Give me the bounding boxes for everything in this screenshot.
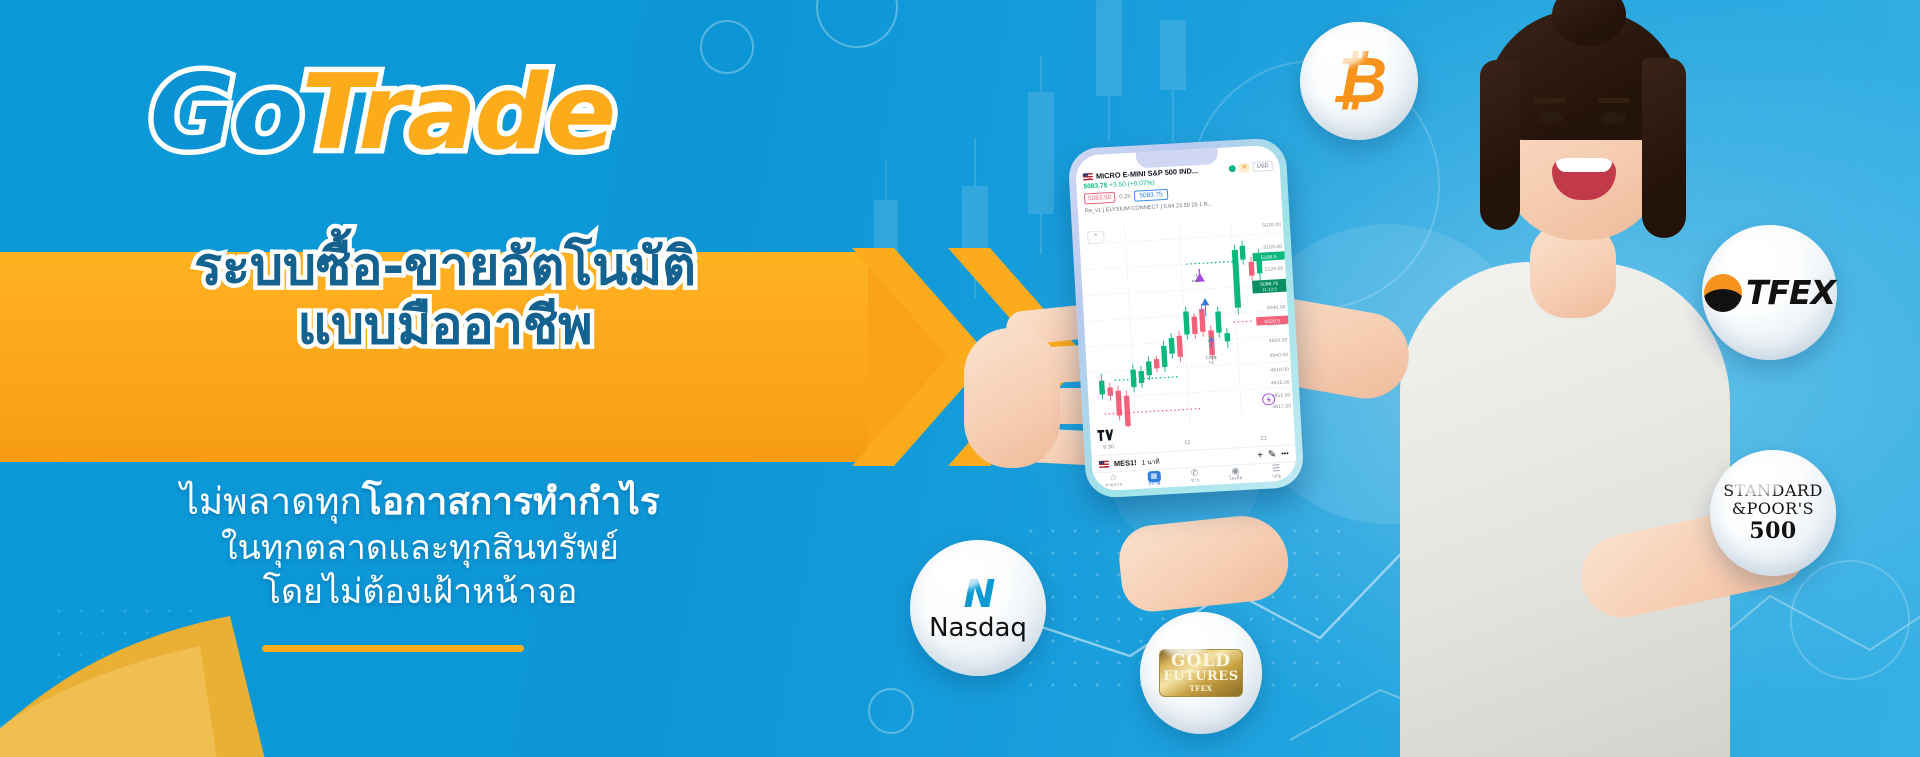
subheadline: ไม่พลาดทุกโอกาสการทำกำไร ในทุกตลาดและทุก… (80, 478, 760, 614)
svg-text:4910.00: 4910.00 (1270, 367, 1289, 374)
app-footer: 9:30 12 21 MES1! 1 นาที + ✎ ••• (1090, 418, 1297, 491)
tfex-mark-icon (1704, 274, 1742, 312)
decor-candle (1096, 0, 1122, 96)
sp500-line-1: STANDARD (1710, 482, 1836, 500)
subheadline-line-2: ในทุกตลาดและทุกสินทรัพย์ (80, 526, 760, 570)
person-hair-side-left (1480, 60, 1520, 230)
more-options-icon[interactable]: ••• (1281, 450, 1289, 457)
person-shirt (1400, 262, 1730, 757)
gold-futures-logo: GOLD FUTURES TFEX (1159, 649, 1243, 697)
tab-label: ไอเดีย (1229, 475, 1243, 482)
badge-tfex: TFEX (1702, 225, 1837, 360)
price-change: +3.50 (+0.07%) (1109, 180, 1155, 190)
sp500-line-3: 500 (1749, 518, 1796, 544)
badge-sp500: STANDARD &POOR'S 500 (1710, 450, 1836, 576)
flag-us-icon (1099, 460, 1109, 468)
svg-text:-1: -1 (1193, 273, 1198, 278)
svg-text:5106.5: 5106.5 (1261, 254, 1277, 261)
person-brow-left (1534, 98, 1566, 103)
svg-text:5040.00: 5040.00 (1267, 304, 1286, 311)
badge-nasdaq: N Nasdaq (910, 540, 1046, 676)
decor-candle (1028, 92, 1054, 214)
subheadline-line-1: ไม่พลาดทุกโอกาสการทำกำไร (80, 478, 760, 526)
person-eye-right (1600, 112, 1626, 124)
tfex-wordmark: TFEX (1746, 273, 1835, 312)
subheadline-line-3: โดยไม่ต้องเฝ้าหน้าจอ (80, 570, 760, 614)
svg-text:4920.00: 4920.00 (1268, 337, 1287, 344)
time-tick: 12 (1184, 440, 1191, 446)
subheadline-line-1-normal: ไม่พลาดทุก (180, 480, 362, 523)
tab-chart[interactable]: ▦ กราฟ (1133, 470, 1175, 489)
sp500-logo: STANDARD &POOR'S 500 (1710, 482, 1836, 544)
tab-label: กราฟ (1148, 480, 1160, 487)
nasdaq-mark-icon: N (964, 572, 993, 616)
currency-badge[interactable]: USD (1253, 161, 1273, 172)
tab-label: ข่าว (1190, 478, 1199, 484)
brand-logo-go-fill: Go (150, 53, 301, 173)
svg-text:4817.00: 4817.00 (1272, 403, 1291, 410)
tab-label: เมนู (1272, 473, 1281, 479)
sp500-line-2-text: &POOR'S (1732, 499, 1814, 518)
headline: ระบบซื้อ-ขายอัตโนมัติ แบบมืออาชีพ ระบบซื… (95, 238, 795, 357)
last-price: 5083.75 (1083, 182, 1107, 190)
chart-svg: 5020.00 5100.00 5120.00 5040.00 5000.00 … (1079, 216, 1294, 429)
person-hair-side-right (1642, 58, 1686, 238)
decor-ring (868, 688, 914, 734)
timeframe-button[interactable]: 1 นาที (1141, 455, 1160, 467)
phone-body: MICRO E-MINI S&P 500 IND... ☆ USD 5083.7… (1067, 137, 1304, 499)
symbol-button[interactable]: MES1! (1114, 457, 1137, 467)
svg-text:+1: +1 (1208, 360, 1214, 365)
add-indicator-icon[interactable]: + (1257, 449, 1263, 460)
tab-news[interactable]: ✆ ข่าว (1174, 468, 1216, 486)
sp500-line-2: &POOR'S 500 (1710, 500, 1836, 544)
buy-button[interactable]: 5083.75 (1134, 189, 1168, 202)
market-status-icon (1229, 164, 1236, 171)
interval-badge[interactable]: ☆ (1239, 163, 1250, 173)
tab-menu[interactable]: ☰ เมนู (1256, 463, 1298, 481)
phone-screen[interactable]: MICRO E-MINI S&P 500 IND... ☆ USD 5083.7… (1075, 145, 1297, 492)
headline-line-1-fill: ระบบซื้อ-ขายอัตโนมัติ (95, 238, 795, 297)
decor-candle (1160, 20, 1186, 90)
svg-text:exit: exit (1192, 278, 1200, 283)
draw-tool-icon[interactable]: ✎ (1268, 449, 1277, 460)
palm (964, 328, 1060, 468)
svg-text:4940.00: 4940.00 (1269, 352, 1288, 359)
decor-ring (700, 20, 754, 74)
brand-logo: GoTrade GoTrade (150, 62, 614, 165)
banner-stage: GoTrade GoTrade ระบบซื้อ-ขายอัตโนมัติ แบ… (0, 0, 1920, 757)
decor-underline (262, 645, 524, 652)
badge-bitcoin: ₿ (1300, 22, 1418, 140)
tradingview-logo-icon (1097, 429, 1114, 444)
spread-value: 0.25 (1119, 193, 1131, 200)
headline-line-2-fill: แบบมืออาชีพ (95, 297, 795, 356)
svg-text:11:13:5: 11:13:5 (1262, 286, 1278, 292)
sell-button[interactable]: 5083.50 (1084, 192, 1116, 205)
svg-text:5020.00: 5020.00 (1262, 222, 1281, 229)
flag-us-icon (1083, 172, 1093, 180)
nasdaq-logo: N Nasdaq (929, 575, 1027, 641)
svg-text:5100.00: 5100.00 (1263, 244, 1282, 251)
price-chart[interactable]: ⌃ (1079, 216, 1294, 429)
badge-gold-futures: GOLD FUTURES TFEX (1140, 612, 1262, 734)
gold-line-2: FUTURES (1163, 670, 1238, 684)
tab-ideas[interactable]: ◉ ไอเดีย (1215, 466, 1257, 484)
svg-text:5120.00: 5120.00 (1264, 266, 1283, 273)
svg-text:5020.5: 5020.5 (1264, 318, 1280, 325)
bitcoin-icon: ₿ (1331, 49, 1387, 113)
nasdaq-wordmark: Nasdaq (929, 615, 1027, 641)
time-tick: 9:30 (1103, 444, 1114, 451)
tab-label: รายการ (1105, 482, 1122, 489)
tfex-logo: TFEX (1704, 273, 1835, 312)
tab-watchlist[interactable]: ☆ รายการ (1093, 472, 1135, 490)
person-brow-right (1598, 98, 1630, 103)
phone-mockup: MICRO E-MINI S&P 500 IND... ☆ USD 5083.7… (1067, 137, 1304, 499)
brand-logo-trade-fill: Trade (301, 53, 614, 173)
collapse-button[interactable]: ⌃ (1087, 230, 1105, 244)
svg-text:Long: Long (1206, 354, 1217, 359)
svg-text:4815.00: 4815.00 (1271, 380, 1290, 387)
gold-line-3: TFEX (1190, 684, 1213, 693)
person-eye-left (1538, 112, 1564, 124)
subheadline-line-1-bold: โอกาสการทำกำไร (362, 480, 660, 523)
gold-line-1: GOLD (1171, 653, 1231, 670)
time-tick: 21 (1260, 436, 1267, 442)
